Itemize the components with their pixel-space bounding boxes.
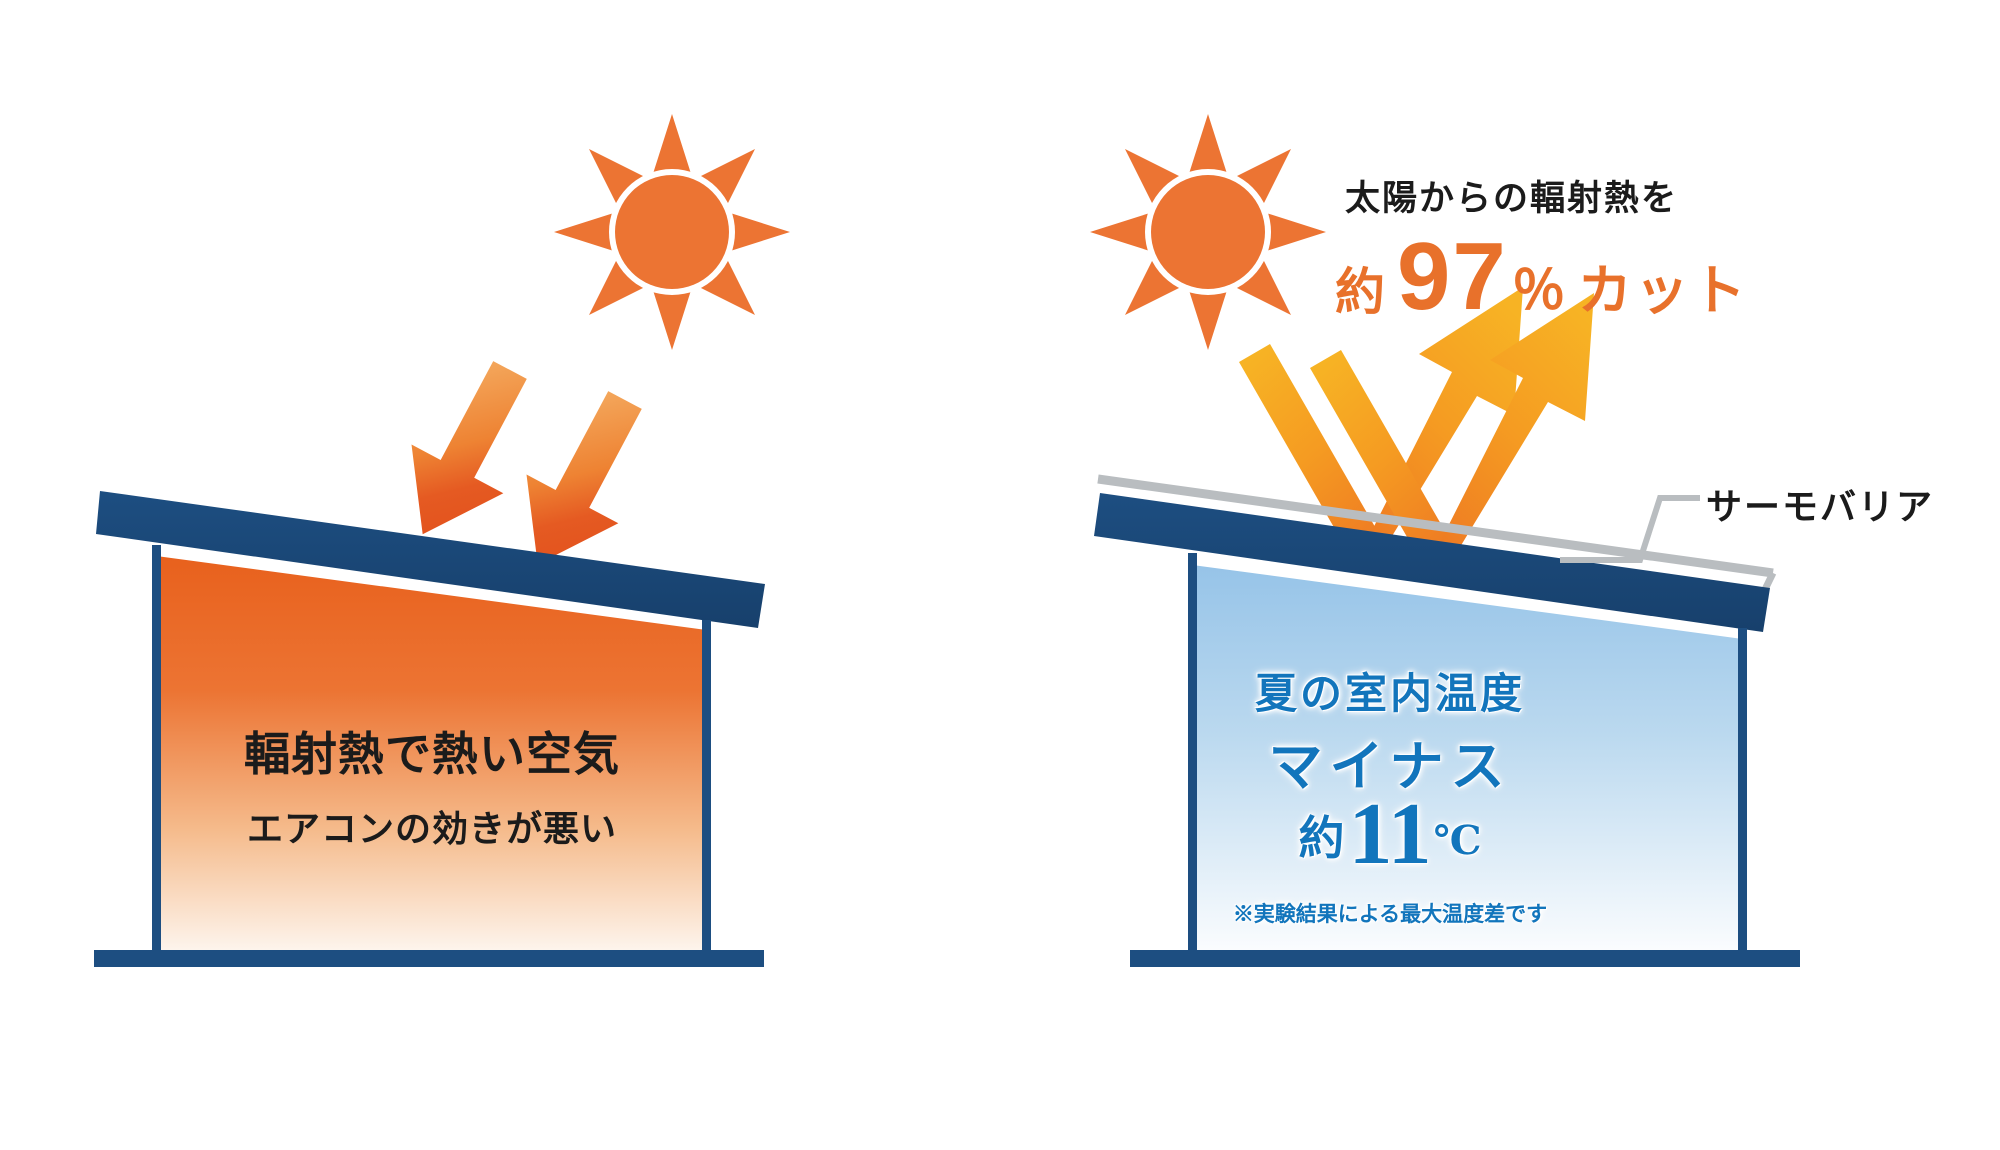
infographic-canvas: 輻射熱で熱い空気 エアコンの効きが悪い 太陽からの輻射熱を 約 97 ％ カット…	[0, 0, 2000, 1150]
temp-value: 11	[1348, 795, 1431, 874]
sun-icon	[554, 114, 790, 350]
down-arrow-icon	[377, 346, 556, 559]
interior-footnote: ※実験結果による最大温度差です	[1180, 898, 1600, 928]
illustration-svg	[0, 0, 2000, 1150]
cut-value: 97	[1397, 238, 1508, 317]
sun-icon	[1090, 114, 1326, 350]
left-heading: 輻射熱で熱い空気	[212, 718, 652, 784]
temp-unit: ℃	[1434, 817, 1482, 874]
interior-line-1: 夏の室内温度	[1180, 660, 1600, 721]
cut-percent: ％	[1512, 246, 1568, 325]
interior-temperature: 約 11 ℃	[1180, 795, 1600, 874]
left-pillar	[152, 545, 161, 955]
ground-line	[94, 950, 764, 967]
cut-approx: 約	[1335, 252, 1387, 324]
right-pillar	[1738, 628, 1747, 955]
left-subheading: エアコンの効きが悪い	[182, 800, 682, 852]
ground-line	[1130, 950, 1800, 967]
cut-suffix: カット	[1578, 246, 1749, 325]
thermo-barrier-label: サーモバリア	[1706, 478, 1934, 530]
temp-approx: 約	[1298, 802, 1344, 874]
headline-lead: 太陽からの輻射熱を	[1345, 170, 1678, 221]
right-pillar	[702, 620, 711, 955]
cut-headline: 約 97 ％ カット	[1335, 238, 1749, 325]
